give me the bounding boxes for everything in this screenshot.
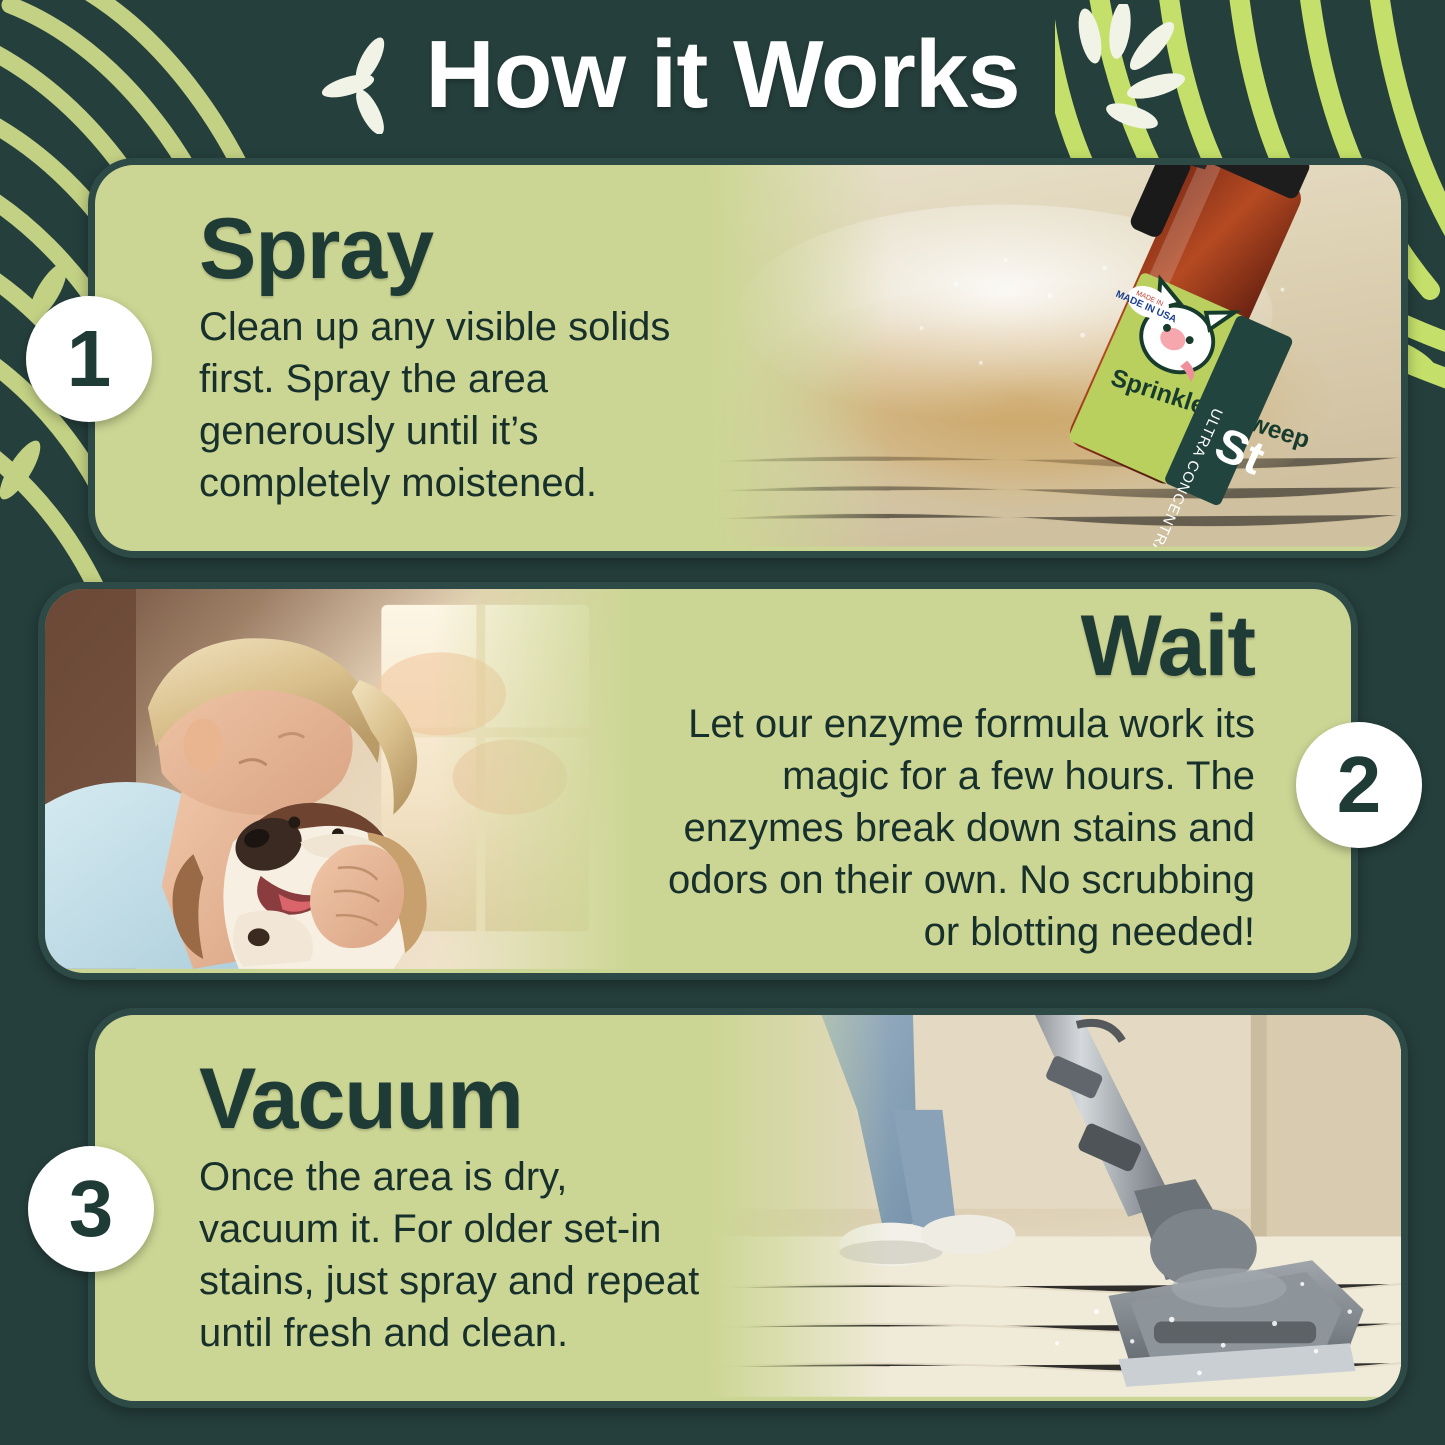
page-title: How it Works <box>425 27 1019 123</box>
photo-blend-edge <box>709 165 889 551</box>
step-card-spray: Spray Clean up any visible solids first.… <box>88 158 1408 558</box>
step-3-heading: Vacuum <box>199 1057 523 1141</box>
step-card-vacuum: Vacuum Once the area is dry, vacuum it. … <box>88 1008 1408 1408</box>
step-1-text-pane: Spray Clean up any visible solids first.… <box>95 165 709 551</box>
page-header: How it Works <box>0 0 1445 150</box>
step-3-body: Once the area is dry, vacuum it. For old… <box>199 1151 709 1359</box>
step-1-number-badge: 1 <box>26 296 152 422</box>
photo-blend-edge <box>709 1015 889 1401</box>
step-2-text-pane: Wait Let our enzyme formula work its mag… <box>633 589 1351 973</box>
step-2-photo <box>45 589 633 973</box>
step-2-body: Let our enzyme formula work its magic fo… <box>633 698 1255 958</box>
step-1-body: Clean up any visible solids first. Spray… <box>199 301 709 509</box>
step-1-photo: Sprinkle & Sweep MADE IN MADE IN USA ULT… <box>709 165 1401 551</box>
splash-right-icon <box>1052 4 1192 144</box>
step-3-number-badge: 3 <box>28 1146 154 1272</box>
step-2-heading: Wait <box>1081 604 1255 688</box>
step-2-number-badge: 2 <box>1296 722 1422 848</box>
step-1-heading: Spray <box>199 207 433 291</box>
splash-left-icon <box>318 34 418 134</box>
step-3-photo <box>709 1015 1401 1401</box>
step-3-text-pane: Vacuum Once the area is dry, vacuum it. … <box>95 1015 709 1401</box>
photo-blend-edge <box>433 589 633 973</box>
step-card-wait: Wait Let our enzyme formula work its mag… <box>38 582 1358 980</box>
